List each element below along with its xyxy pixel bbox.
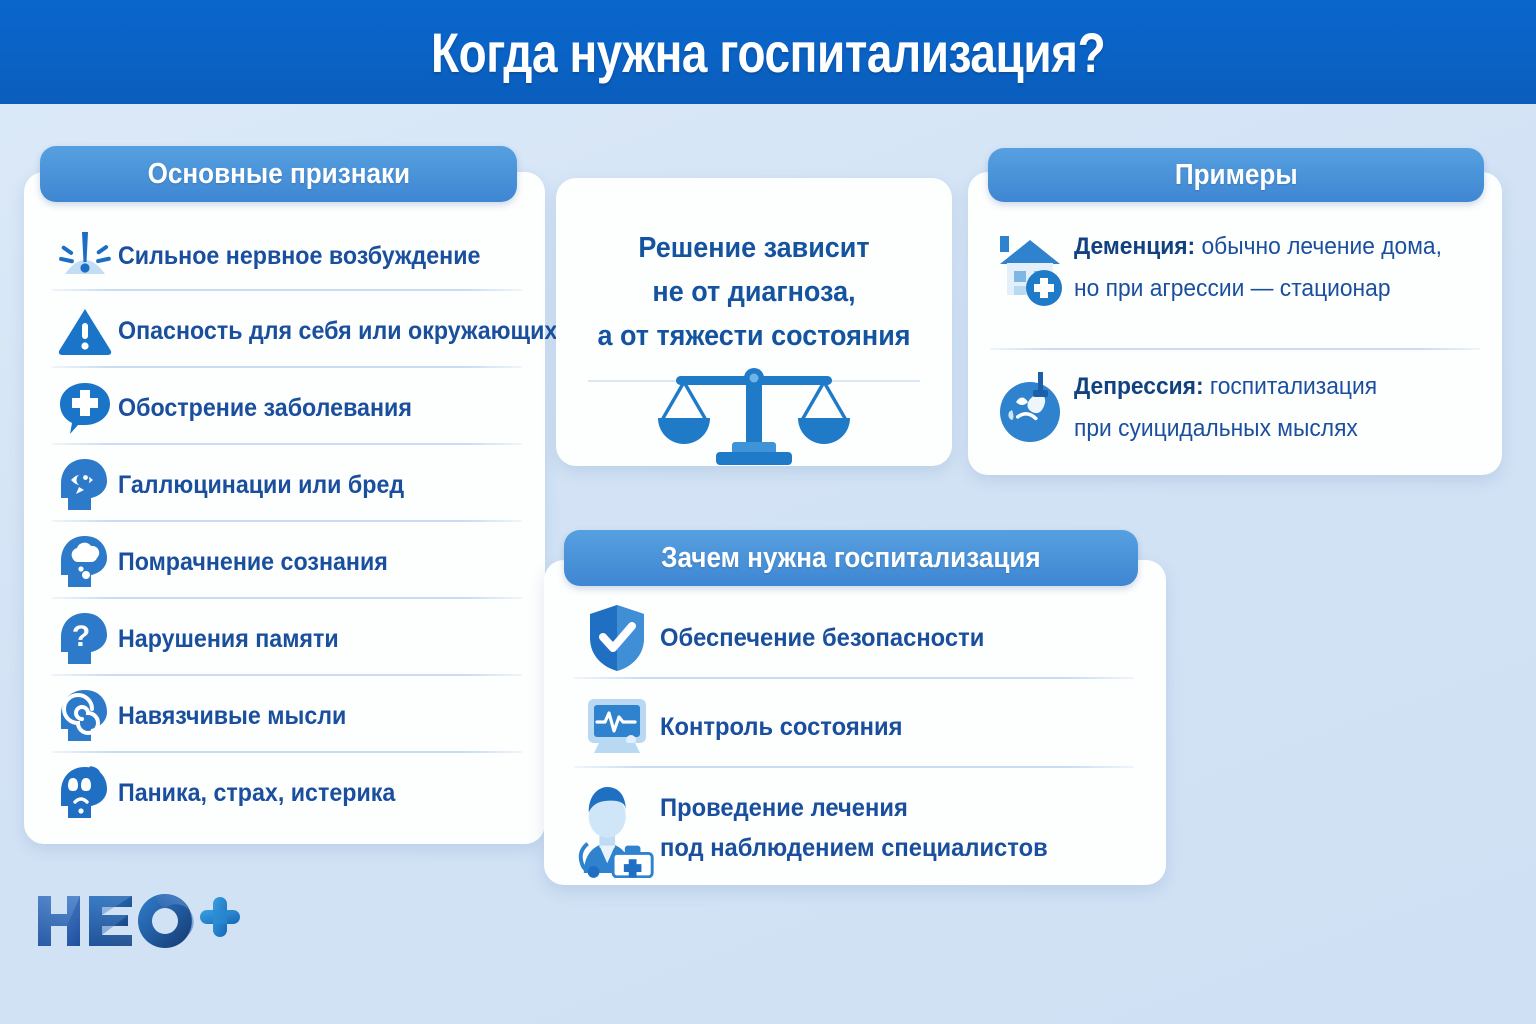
- signs-divider-5: [52, 597, 522, 599]
- sign-label: Обострение заболевания: [118, 394, 412, 423]
- house-medical-icon: [990, 226, 1074, 308]
- example-row-depression[interactable]: Депрессия: госпитализация при суицидальн…: [990, 366, 1490, 450]
- warning-triangle-icon: [52, 305, 118, 357]
- head-eye-icon: [52, 456, 118, 514]
- sign-label: Нарушения памяти: [118, 625, 339, 654]
- example-line-1: обычно лечение дома,: [1195, 233, 1442, 260]
- example-text: Депрессия: госпитализация при суицидальн…: [1074, 366, 1377, 450]
- head-question-icon: ?: [52, 610, 118, 668]
- example-row-dementia[interactable]: Деменция: обычно лечение дома, но при аг…: [990, 226, 1490, 310]
- brand-logo: [34, 890, 244, 952]
- sign-row-8[interactable]: Паника, страх, истерика: [52, 763, 522, 823]
- decision-text: Решение зависит не от диагноза, а от тяж…: [556, 226, 952, 358]
- sad-face-drop-icon: [990, 366, 1074, 446]
- decision-card: Решение зависит не от диагноза, а от тяж…: [556, 178, 952, 466]
- why-panel-header: Зачем нужна госпитализация: [564, 530, 1138, 586]
- svg-text:?: ?: [72, 620, 90, 653]
- logo-icon: [34, 890, 244, 952]
- doctor-kit-icon: [574, 780, 660, 878]
- why-panel-title: Зачем нужна госпитализация: [661, 542, 1041, 575]
- head-cloud-icon: [52, 533, 118, 591]
- sign-label: Навязчивые мысли: [118, 702, 346, 731]
- sign-row-6[interactable]: ? Нарушения памяти: [52, 609, 522, 669]
- sign-label: Опасность для себя или окружающих: [118, 317, 557, 346]
- signs-divider-4: [52, 520, 522, 522]
- infographic-page: Когда нужна госпитализация? Основные при…: [0, 0, 1536, 1024]
- sign-row-5[interactable]: Помрачнение сознания: [52, 532, 522, 592]
- head-panic-face-icon: [52, 764, 118, 822]
- shield-check-icon: [574, 602, 660, 674]
- why-row-monitoring[interactable]: Контроль состояния: [574, 694, 1144, 760]
- sign-label: Помрачнение сознания: [118, 548, 388, 577]
- signs-divider-2: [52, 366, 522, 368]
- page-title: Когда нужна госпитализация?: [431, 20, 1105, 85]
- why-row-safety[interactable]: Обеспечение безопасности: [574, 605, 1144, 671]
- sign-row-1[interactable]: Сильное нервное возбуждение: [52, 226, 522, 286]
- why-divider-1: [574, 677, 1134, 679]
- balance-scales-icon: [654, 358, 854, 471]
- examples-panel-title: Примеры: [1175, 159, 1298, 192]
- examples-divider-1: [990, 348, 1480, 350]
- why-label-line-1: Проведение лечения: [660, 788, 1048, 828]
- example-line-2: при суицидальных мыслях: [1074, 408, 1377, 450]
- signs-divider-7: [52, 751, 522, 753]
- why-divider-2: [574, 766, 1134, 768]
- example-term: Деменция:: [1074, 233, 1195, 260]
- why-label: Обеспечение безопасности: [660, 618, 984, 658]
- decision-line-1: Решение зависит: [570, 226, 938, 270]
- signs-divider-1: [52, 289, 522, 291]
- decision-line-2: не от диагноза,: [570, 270, 938, 314]
- signs-divider-3: [52, 443, 522, 445]
- heart-monitor-icon: [574, 696, 660, 758]
- examples-panel-header: Примеры: [988, 148, 1484, 202]
- example-text: Деменция: обычно лечение дома, но при аг…: [1074, 226, 1442, 310]
- decision-line-3: а от тяжести состояния: [570, 314, 938, 358]
- sign-row-2[interactable]: Опасность для себя или окружающих: [52, 301, 522, 361]
- example-term: Депрессия:: [1074, 373, 1204, 400]
- sign-label: Паника, страх, истерика: [118, 779, 395, 808]
- signs-panel-title: Основные признаки: [147, 158, 410, 191]
- exclamation-burst-icon: [52, 228, 118, 284]
- signs-divider-6: [52, 674, 522, 676]
- example-line-1: госпитализация: [1204, 373, 1377, 400]
- sign-row-3[interactable]: Обострение заболевания: [52, 378, 522, 438]
- why-label-block: Проведение лечения под наблюдением специ…: [660, 788, 1048, 868]
- why-label-line-2: под наблюдением специалистов: [660, 828, 1048, 868]
- head-spiral-icon: [52, 687, 118, 745]
- signs-panel-header: Основные признаки: [40, 146, 517, 202]
- medical-cross-bubble-icon: [52, 380, 118, 436]
- sign-label: Сильное нервное возбуждение: [118, 242, 480, 271]
- sign-row-7[interactable]: Навязчивые мысли: [52, 686, 522, 746]
- page-header: Когда нужна госпитализация?: [0, 0, 1536, 104]
- why-row-treatment[interactable]: Проведение лечения под наблюдением специ…: [574, 780, 1144, 876]
- sign-label: Галлюцинации или бред: [118, 471, 404, 500]
- sign-row-4[interactable]: Галлюцинации или бред: [52, 455, 522, 515]
- example-line-2: но при агрессии — стационар: [1074, 268, 1442, 310]
- why-label: Контроль состояния: [660, 707, 902, 747]
